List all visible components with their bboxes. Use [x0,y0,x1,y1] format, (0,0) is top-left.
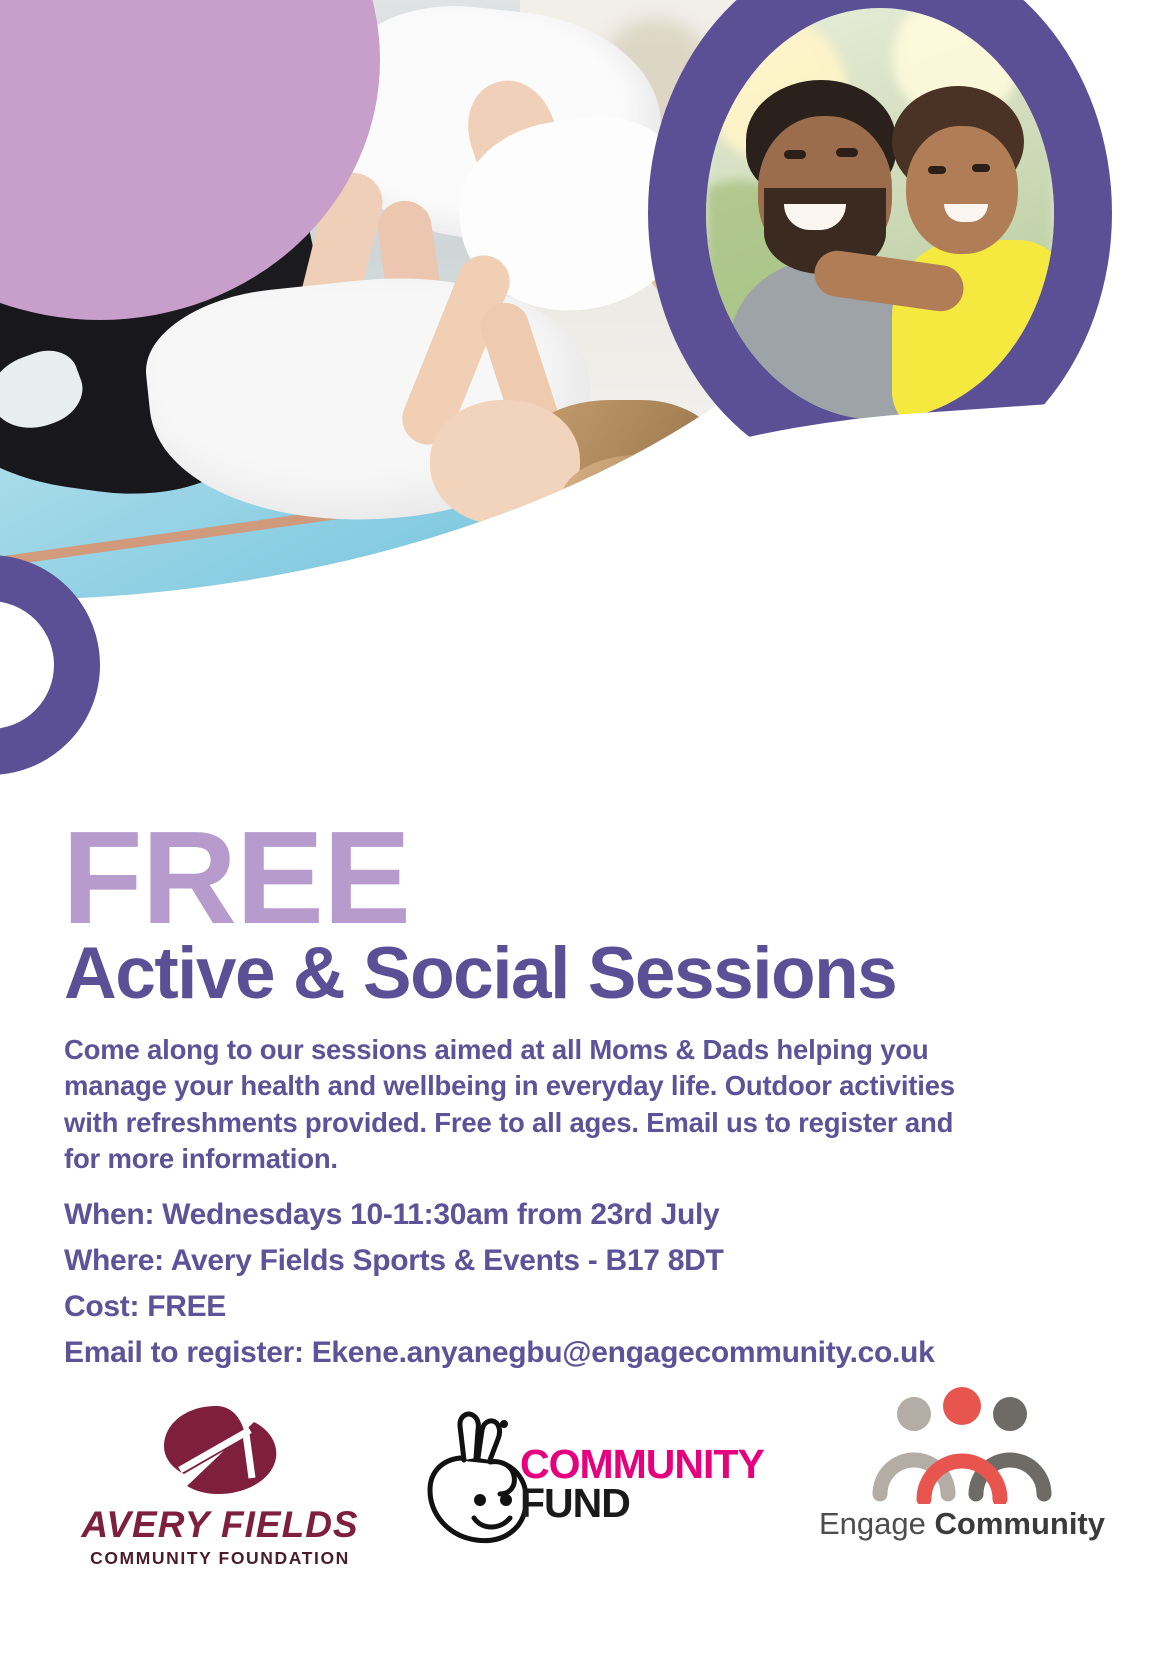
community-fund-line2: FUND [520,1484,764,1523]
sponsor-logos: AVERY FIELDS COMMUNITY FOUNDATION COMMUN… [0,1400,1166,1630]
child-eye [972,164,990,172]
engage-community-wordmark: Engage Community [812,1508,1112,1539]
hero-photo-collage [0,0,1166,830]
community-fund-wordmark: COMMUNITY FUND [520,1446,764,1523]
avery-fields-mark-icon [150,1400,290,1500]
child-eye [928,166,946,174]
engage-community-word1: Engage [819,1506,926,1541]
photo-father-and-child [706,8,1054,420]
detail-cost: Cost: FREE [64,1284,1074,1330]
description-paragraph: Come along to our sessions aimed at all … [64,1032,964,1177]
engage-community-word2: Community [935,1506,1106,1541]
avery-fields-name: AVERY FIELDS [60,1506,380,1543]
three-people-icon [862,1384,1062,1504]
headline-free: FREE [62,812,410,944]
adult-eye [784,150,806,159]
detail-when: When: Wednesdays 10-11:30am from 23rd Ju… [64,1192,1074,1238]
child-face [906,126,1018,254]
community-fund-line1: COMMUNITY [520,1446,764,1484]
logo-engage-community: Engage Community [812,1384,1112,1539]
detail-where: Where: Avery Fields Sports & Events - B1… [64,1238,1074,1284]
headline-subtitle: Active & Social Sessions [64,936,896,1013]
logo-community-fund: COMMUNITY FUND [420,1408,780,1588]
adult-eye [836,148,858,157]
detail-email: Email to register: Ekene.anyanegbu@engag… [64,1330,1074,1376]
avery-fields-tagline: COMMUNITY FOUNDATION [60,1550,380,1568]
session-details: When: Wednesdays 10-11:30am from 23rd Ju… [64,1192,1074,1376]
logo-avery-fields: AVERY FIELDS COMMUNITY FOUNDATION [60,1400,380,1568]
